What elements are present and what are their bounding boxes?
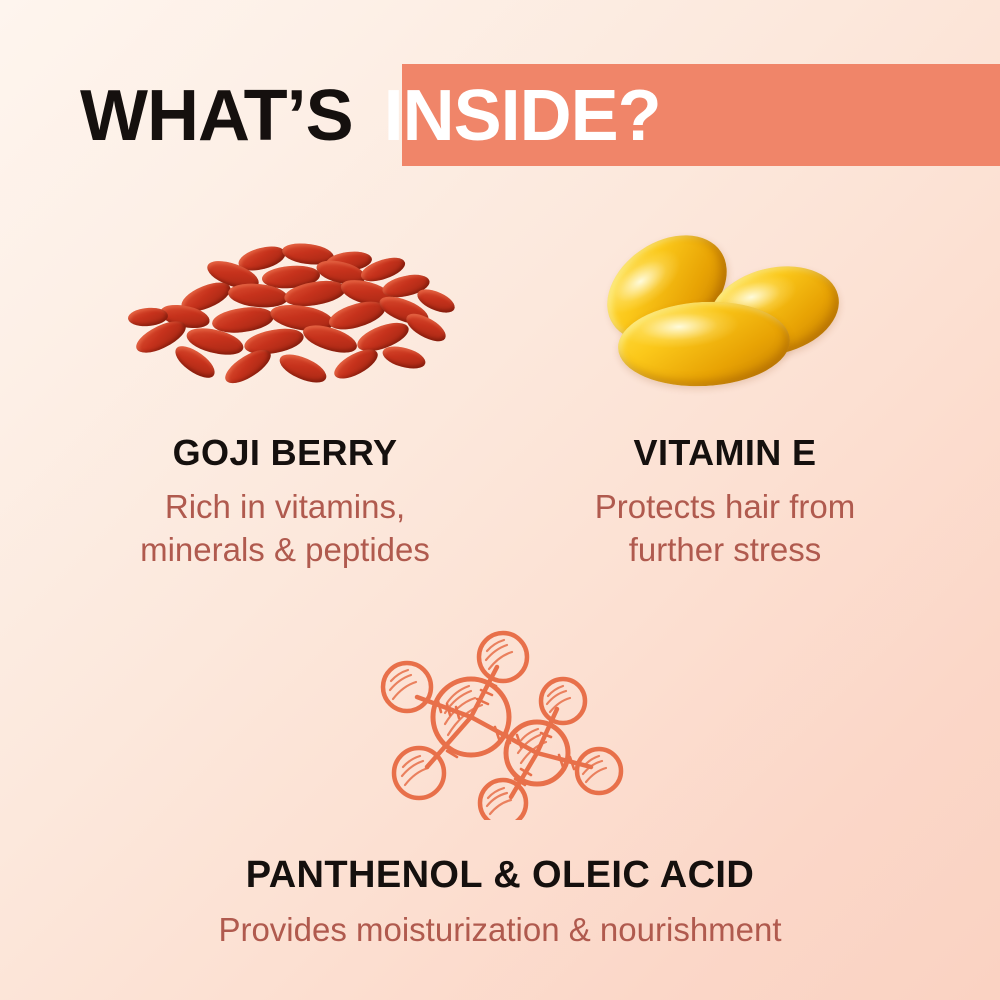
ingredient-name: VITAMIN E <box>505 433 945 473</box>
ingredient-description: Protects hair from further stress <box>505 486 945 572</box>
page-title-first-word: WHAT’S <box>80 76 353 156</box>
page-title: WHAT’SINSIDE? <box>80 72 980 162</box>
ingredient-description: Provides moisturization & nourishment <box>100 909 900 952</box>
goji-berry-pile-image <box>120 230 450 405</box>
description-line: further stress <box>505 529 945 572</box>
ingredient-card-vitamin-e: VITAMIN E Protects hair from further str… <box>505 230 945 572</box>
page-title-second-word: INSIDE? <box>384 76 661 156</box>
ingredient-card-goji-berry: GOJI BERRY Rich in vitamins, minerals & … <box>60 230 510 572</box>
description-line: Rich in vitamins, <box>60 486 510 529</box>
molecule-illustration <box>375 625 625 820</box>
capsule-group <box>590 230 860 405</box>
vitamin-e-softgel-capsules-image <box>590 230 860 405</box>
whats-inside-infographic: WHAT’SINSIDE? <box>0 0 1000 1000</box>
molecule-icon <box>375 625 625 820</box>
goji-berry <box>276 349 330 389</box>
ingredient-name: GOJI BERRY <box>60 433 510 473</box>
berry-pile <box>120 230 450 405</box>
description-line: Protects hair from <box>505 486 945 529</box>
description-line: Provides moisturization & nourishment <box>100 909 900 952</box>
ingredient-name: PANTHENOL & OLEIC ACID <box>100 854 900 897</box>
description-line: minerals & peptides <box>60 529 510 572</box>
goji-berry <box>380 342 428 372</box>
ingredient-card-panthenol-oleic-acid: PANTHENOL & OLEIC ACID Provides moisturi… <box>100 625 900 951</box>
ingredient-description: Rich in vitamins, minerals & peptides <box>60 486 510 572</box>
